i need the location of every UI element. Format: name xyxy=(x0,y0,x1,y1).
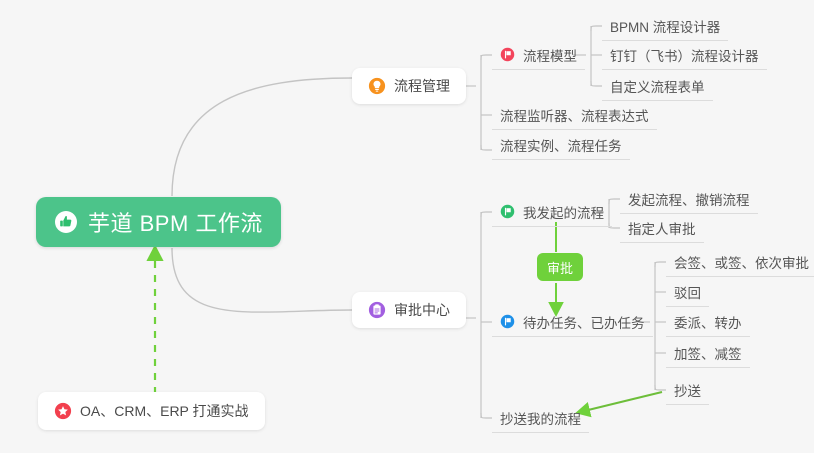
flag-red-icon xyxy=(500,47,515,62)
connector-todo-to-countersign xyxy=(655,262,666,267)
node-cc[interactable]: 抄送 xyxy=(666,375,709,405)
node-process-listener-expression-label: 流程监听器、流程表达式 xyxy=(500,105,649,125)
node-my-started-process-label: 我发起的流程 xyxy=(523,202,604,222)
node-assignee-approval[interactable]: 指定人审批 xyxy=(620,213,704,243)
branch-approval-center[interactable]: 审批中心 xyxy=(352,292,466,328)
connector-green-cc-to-ccmine xyxy=(580,392,662,412)
node-reject-label: 驳回 xyxy=(674,282,701,302)
connector-process-management-to-process-model xyxy=(481,55,492,60)
connector-todo-to-cc xyxy=(655,385,666,390)
star-icon xyxy=(54,402,72,420)
node-process-listener-expression[interactable]: 流程监听器、流程表达式 xyxy=(492,100,657,130)
node-my-started-process[interactable]: 我发起的流程 xyxy=(492,197,612,227)
flag-blue-icon xyxy=(500,314,515,329)
node-custom-process-form-label: 自定义流程表单 xyxy=(610,76,705,96)
node-process-model[interactable]: 流程模型 xyxy=(492,40,585,70)
node-reject[interactable]: 驳回 xyxy=(666,277,709,307)
node-custom-process-form[interactable]: 自定义流程表单 xyxy=(602,71,713,101)
branch-process-management-label: 流程管理 xyxy=(394,76,450,96)
node-cc-to-me-process[interactable]: 抄送我的流程 xyxy=(492,403,589,433)
node-dingtalk-feishu-designer-label: 钉钉（飞书）流程设计器 xyxy=(610,45,759,65)
root-label: 芋道 BPM 工作流 xyxy=(88,206,263,238)
node-process-instance-task-label: 流程实例、流程任务 xyxy=(500,135,622,155)
connector-process-model-to-custom-form xyxy=(591,81,602,86)
node-start-cancel-process-label: 发起流程、撤销流程 xyxy=(628,189,750,209)
node-delegate-transfer[interactable]: 委派、转办 xyxy=(666,307,750,337)
node-countersign-label: 会签、或签、依次审批 xyxy=(674,252,809,272)
node-cc-to-me-process-label: 抄送我的流程 xyxy=(500,408,581,428)
node-cc-label: 抄送 xyxy=(674,380,701,400)
note-node[interactable]: OA、CRM、ERP 打通实战 xyxy=(38,392,265,430)
thumbs-up-icon xyxy=(54,210,78,234)
node-delegate-transfer-label: 委派、转办 xyxy=(674,312,742,332)
note-label: OA、CRM、ERP 打通实战 xyxy=(80,401,249,421)
tag-approval-label: 审批 xyxy=(547,258,573,277)
node-todo-done-task-label: 待办任务、已办任务 xyxy=(523,312,645,332)
node-todo-done-task[interactable]: 待办任务、已办任务 xyxy=(492,307,653,337)
connector-process-management-to-instance xyxy=(481,145,492,150)
node-process-model-label: 流程模型 xyxy=(523,45,577,65)
connector-process-model-to-bpmn xyxy=(591,26,602,31)
tag-approval[interactable]: 审批 xyxy=(537,253,583,281)
node-start-cancel-process[interactable]: 发起流程、撤销流程 xyxy=(620,184,758,214)
mindmap-canvas: 芋道 BPM 工作流 OA、CRM、ERP 打通实战 流程管理 xyxy=(0,0,814,453)
clipboard-icon xyxy=(368,301,386,319)
node-dingtalk-feishu-designer[interactable]: 钉钉（飞书）流程设计器 xyxy=(602,40,767,70)
lightbulb-icon xyxy=(368,77,386,95)
node-bpmn-designer[interactable]: BPMN 流程设计器 xyxy=(602,11,728,41)
connector-approval-center-to-my-started xyxy=(481,212,492,217)
connector-approval-center-to-cc-mine xyxy=(481,413,492,418)
node-add-remove-sign[interactable]: 加签、减签 xyxy=(666,338,750,368)
root-node[interactable]: 芋道 BPM 工作流 xyxy=(36,197,281,247)
connector-root-to-approval-center xyxy=(172,248,352,312)
node-bpmn-designer-label: BPMN 流程设计器 xyxy=(610,16,720,36)
branch-approval-center-label: 审批中心 xyxy=(394,300,450,320)
node-add-remove-sign-label: 加签、减签 xyxy=(674,343,742,363)
branch-process-management[interactable]: 流程管理 xyxy=(352,68,466,104)
node-assignee-approval-label: 指定人审批 xyxy=(628,218,696,238)
connector-root-to-process-management xyxy=(172,78,352,196)
node-process-instance-task[interactable]: 流程实例、流程任务 xyxy=(492,130,630,160)
node-countersign[interactable]: 会签、或签、依次审批 xyxy=(666,247,814,277)
flag-green-icon xyxy=(500,204,515,219)
